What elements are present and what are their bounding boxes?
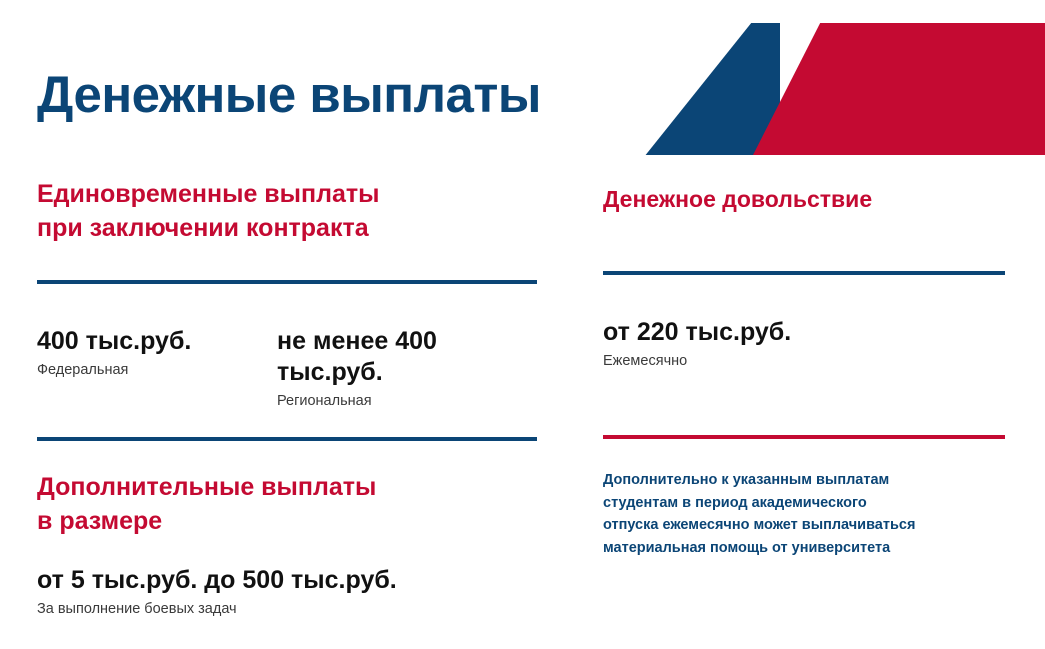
- payment-caption-regional: Региональная: [277, 391, 518, 411]
- page-title: Денежные выплаты: [37, 68, 541, 122]
- payment-caption-monthly: Ежемесячно: [603, 351, 1005, 371]
- banner-navy-shape: [620, 23, 780, 155]
- flag-banner-decoration: [620, 23, 1045, 155]
- left-column: Единовременные выплаты при заключении ко…: [37, 178, 537, 619]
- right-column: Денежное довольствие от 220 тыс.руб. Еже…: [603, 185, 1005, 559]
- banner-red-shape: [753, 23, 1045, 155]
- payment-item-combat: от 5 тыс.руб. до 500 тыс.руб. За выполне…: [37, 565, 537, 620]
- section-heading-additional: Дополнительные выплаты в размере: [37, 471, 537, 539]
- payment-row-lump-sum: 400 тыс.руб. Федеральная не менее 400 ты…: [37, 326, 537, 412]
- footnote-university-aid: Дополнительно к указанным выплатам студе…: [603, 469, 1005, 559]
- payment-amount-monthly: от 220 тыс.руб.: [603, 317, 1005, 348]
- payment-caption-federal: Федеральная: [37, 360, 277, 380]
- section-heading-lump-sum: Единовременные выплаты при заключении ко…: [37, 178, 537, 246]
- payment-item-monthly: от 220 тыс.руб. Ежемесячно: [603, 317, 1005, 372]
- payment-amount-federal: 400 тыс.руб.: [37, 326, 277, 357]
- slide-root: Денежные выплаты Единовременные выплаты …: [0, 0, 1045, 649]
- payment-amount-regional: не менее 400 тыс.руб.: [277, 326, 518, 389]
- payment-caption-combat: За выполнение боевых задач: [37, 599, 537, 619]
- payment-item-federal: 400 тыс.руб. Федеральная: [37, 326, 277, 381]
- payment-amount-combat: от 5 тыс.руб. до 500 тыс.руб.: [37, 565, 537, 596]
- section-heading-allowance: Денежное довольствие: [603, 185, 1005, 215]
- payment-item-regional: не менее 400 тыс.руб. Региональная: [277, 326, 518, 412]
